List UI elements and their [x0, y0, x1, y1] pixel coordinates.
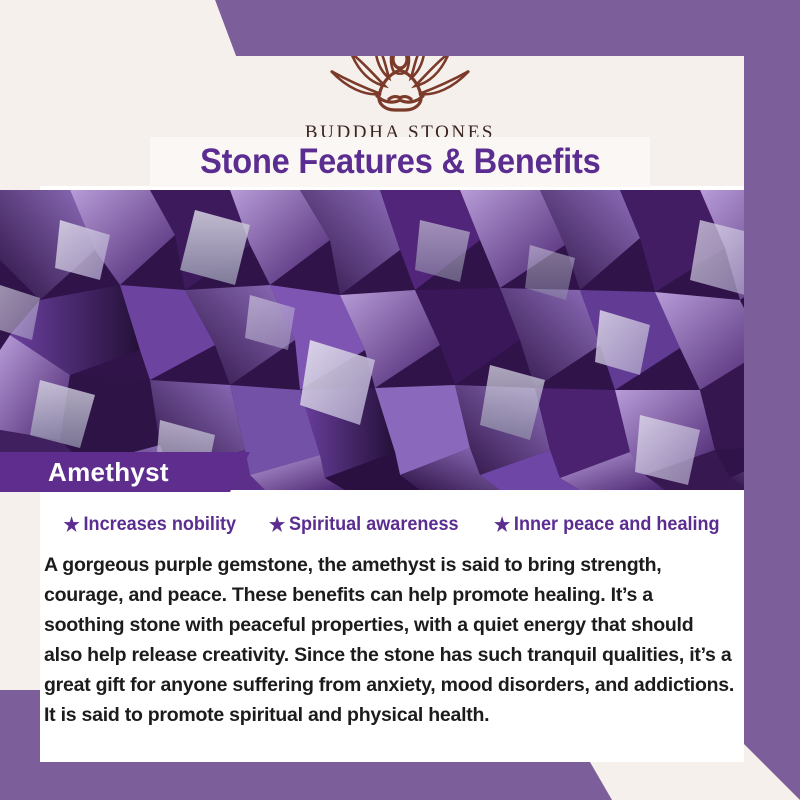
feature-item-2: ★ Inner peace and healing: [494, 514, 720, 536]
stone-name-label: Amethyst: [48, 457, 169, 488]
feature-item-0: ★ Increases nobility: [63, 514, 235, 536]
amethyst-photo: [0, 190, 800, 490]
frame-right-band: [744, 0, 800, 800]
feature-label: Increases nobility: [83, 514, 235, 536]
star-icon: ★: [269, 516, 285, 535]
stone-details: ★ Increases nobility ★ Spiritual awarene…: [40, 492, 744, 762]
feature-item-1: ★ Spiritual awareness: [269, 514, 459, 536]
page-title: Stone Features & Benefits: [200, 142, 601, 182]
feature-label: Spiritual awareness: [289, 514, 459, 536]
stone-infographic: BUDDHA STONES Stone Features & Benefits …: [0, 0, 800, 800]
star-icon: ★: [63, 516, 79, 535]
stone-name-badge: Amethyst: [0, 452, 250, 492]
stone-description: A gorgeous purple gemstone, the amethyst…: [40, 550, 744, 730]
feature-list: ★ Increases nobility ★ Spiritual awarene…: [40, 492, 744, 536]
title-banner: Stone Features & Benefits: [150, 137, 650, 187]
frame-bottom-band: [0, 762, 800, 800]
star-icon: ★: [494, 516, 510, 535]
feature-label: Inner peace and healing: [514, 514, 720, 536]
